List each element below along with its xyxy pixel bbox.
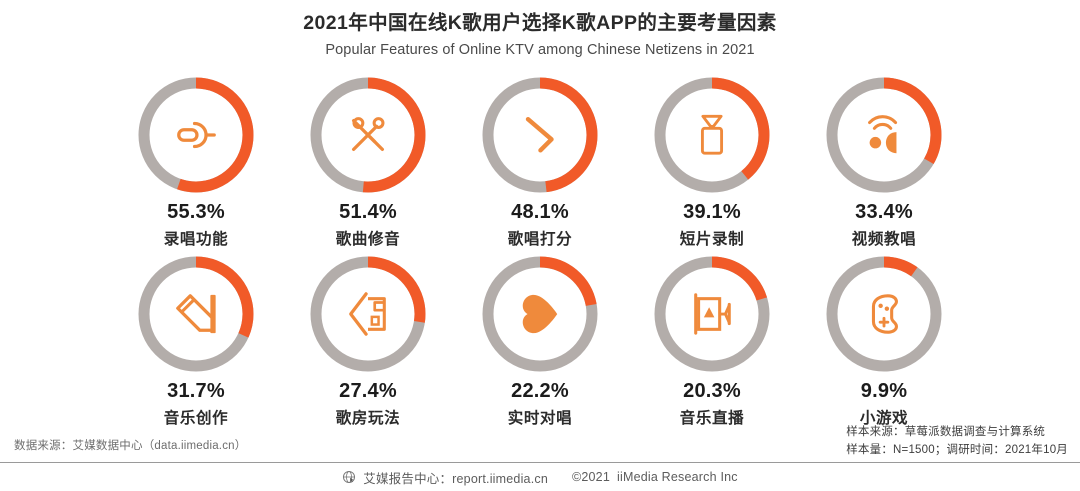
donut-label: 录唱功能 (164, 227, 228, 249)
copyright-text: ©2021 (572, 470, 610, 484)
donut-cell: 55.3%录唱功能 (110, 76, 282, 249)
donut-label: 视频教唱 (852, 227, 916, 249)
donut-percentage: 31.7% (167, 380, 225, 403)
sample-size-line: 样本量：N=1500；调研时间：2021年10月 (846, 442, 1068, 460)
donut-chart (137, 255, 255, 373)
donut-label: 音乐直播 (680, 406, 744, 428)
donut-cell: 39.1%短片录制 (626, 76, 798, 249)
globe-icon (342, 470, 356, 484)
page-title: 2021年中国在线K歌用户选择K歌APP的主要考量因素 (0, 10, 1080, 36)
donut-track (832, 262, 936, 366)
donut-percentage: 55.3% (167, 201, 225, 224)
company-text: iiMedia Research Inc (617, 470, 738, 484)
donut-grid: 55.3%录唱功能51.4%歌曲修音48.1%歌唱打分39.1%短片录制33.4… (0, 76, 1080, 428)
donut-label: 音乐创作 (164, 406, 228, 428)
title-zone: 2021年中国在线K歌用户选择K歌APP的主要考量因素 Popular Feat… (0, 0, 1080, 58)
donut-chart (481, 76, 599, 194)
donut-label: 短片录制 (680, 227, 744, 249)
donut-chart (481, 255, 599, 373)
report-center-text: 艾媒报告中心：report.iimedia.cn (363, 468, 548, 487)
donut-cell: 27.4%歌房玩法 (282, 255, 454, 428)
donut-cell: 20.3%音乐直播 (626, 255, 798, 428)
donut-percentage: 33.4% (855, 201, 913, 224)
data-source-note: 数据来源：艾媒数据中心（data.iimedia.cn） (14, 437, 246, 453)
donut-chart (309, 76, 427, 194)
donut-percentage: 39.1% (683, 201, 741, 224)
donut-cell: 22.2%实时对唱 (454, 255, 626, 428)
donut-label: 歌唱打分 (508, 227, 572, 249)
donut-cell: 9.9%小游戏 (798, 255, 970, 428)
donut-row-1: 55.3%录唱功能51.4%歌曲修音48.1%歌唱打分39.1%短片录制33.4… (0, 76, 1080, 249)
donut-percentage: 48.1% (511, 201, 569, 224)
donut-chart (653, 76, 771, 194)
donut-chart (309, 255, 427, 373)
donut-cell: 33.4%视频教唱 (798, 76, 970, 249)
sample-source-line: 样本来源：草莓派数据调查与计算系统 (846, 424, 1068, 442)
sample-info: 样本来源：草莓派数据调查与计算系统 样本量：N=1500；调研时间：2021年1… (846, 424, 1068, 460)
infographic-root: 2021年中国在线K歌用户选择K歌APP的主要考量因素 Popular Feat… (0, 0, 1080, 491)
donut-percentage: 20.3% (683, 380, 741, 403)
donut-chart (825, 76, 943, 194)
donut-percentage: 51.4% (339, 201, 397, 224)
donut-cell: 48.1%歌唱打分 (454, 76, 626, 249)
donut-chart (825, 255, 943, 373)
donut-percentage: 27.4% (339, 380, 397, 403)
donut-chart (653, 255, 771, 373)
donut-cell: 31.7%音乐创作 (110, 255, 282, 428)
donut-row-2: 31.7%音乐创作27.4%歌房玩法22.2%实时对唱20.3%音乐直播9.9%… (0, 251, 1080, 428)
donut-label: 歌曲修音 (336, 227, 400, 249)
page-subtitle: Popular Features of Online KTV among Chi… (0, 42, 1080, 58)
donut-percentage: 9.9% (861, 380, 907, 403)
donut-cell: 51.4%歌曲修音 (282, 76, 454, 249)
donut-percentage: 22.2% (511, 380, 569, 403)
footer-bar: 艾媒报告中心：report.iimedia.cn ©2021 iiMedia R… (0, 463, 1080, 491)
donut-chart (137, 76, 255, 194)
donut-label: 实时对唱 (508, 406, 572, 428)
donut-label: 歌房玩法 (336, 406, 400, 428)
